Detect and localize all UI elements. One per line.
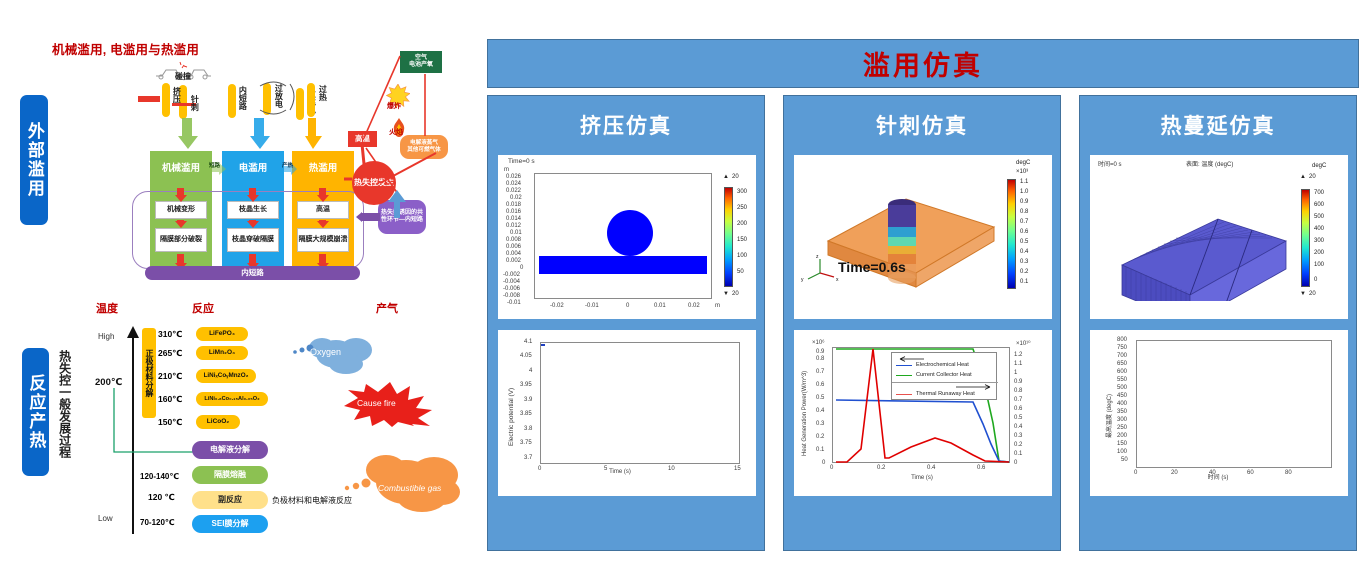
nail-cb-7: 0.4 [1020, 249, 1028, 255]
sq-x-unit: m [715, 303, 720, 309]
reaction-nca: LiNi₀.₈Co₀.₁₅Al₀.₀₅O₂ [196, 392, 268, 406]
label-overheat: 过热 [318, 85, 326, 101]
temp-120: 120 ℃ [148, 492, 175, 503]
panel-thermal-propagation-simulation[interactable]: 热蔓延仿真 时间=0 s 表面: 温度 (degC) [1079, 95, 1357, 551]
panel-title-squeeze: 挤压仿真 [488, 110, 764, 140]
reaction-separator-melt: 隔膜熔融 [192, 466, 268, 484]
hg-ytl-0: 0 [822, 460, 825, 466]
subbox-mechanical-deformation: 机械变形 [155, 201, 207, 219]
ep-xt-0: 0 [538, 466, 541, 472]
temp-120-140: 120-140℃ [140, 472, 179, 481]
reaction-nmc: LiNiₓCoᵧMnzO₂ [196, 369, 256, 383]
hg-ytl-3: 0.3 [816, 421, 824, 427]
subbox-dendrite-pierce: 枝晶穿破隔膜 [227, 228, 279, 252]
hg-xt-2: 0.4 [927, 465, 935, 471]
legend-divider [892, 382, 998, 383]
mt-plot-frame [1136, 340, 1332, 468]
ep-xt-2: 10 [668, 466, 675, 472]
mt-yt-11: 250 [1117, 425, 1127, 431]
reaction-licoo2: LiCoO₂ [196, 415, 240, 429]
hg-ytl-4: 0.4 [816, 408, 824, 414]
pack-cbar-down-icon [1300, 291, 1306, 297]
sidebar-tab-external-abuse: 外部滥用 [20, 95, 48, 225]
ep-xt-1: 5 [604, 466, 607, 472]
mt-yt-12: 200 [1117, 433, 1127, 439]
red-arrow-3 [177, 254, 184, 264]
mt-yt-10: 300 [1117, 417, 1127, 423]
pack-cb-1: 600 [1314, 202, 1324, 208]
hg-ytl-1: 0.1 [816, 447, 824, 453]
heat-generation-plot[interactable]: Heat Generation Power(W/m^3) ×10⁶ ×10¹⁰ [794, 330, 1052, 496]
combustible-gas-cloud-icon [330, 440, 470, 515]
reaction-lifepo4: LiFePO₄ [196, 327, 248, 341]
mt-yt-8: 400 [1117, 401, 1127, 407]
sq-yt-4: 0.018 [506, 202, 521, 208]
sq-cbar-down-icon [723, 291, 729, 297]
hg-ytr-0: 0 [1014, 460, 1017, 466]
box-electrical-abuse: 电滥用 [222, 151, 284, 187]
mt-xt-1: 20 [1171, 470, 1178, 476]
sq-yt-2: 0.022 [506, 188, 521, 194]
sq-yt-5: 0.016 [506, 209, 521, 215]
mt-yt-6: 500 [1117, 385, 1127, 391]
mt-yt-2: 700 [1117, 353, 1127, 359]
mt-ylabel: 最高温度 (degC) [1104, 394, 1113, 438]
arrow-to-electrical [250, 118, 276, 150]
box-mechanical-abuse: 机械滥用 [150, 151, 212, 187]
panel-title-propagation: 热蔓延仿真 [1080, 110, 1356, 140]
ep-yt-2: 4 [529, 368, 532, 374]
squeeze-y-unit: m [504, 167, 509, 173]
pack-cb-4: 300 [1314, 238, 1324, 244]
sq-cb-4: 100 [737, 253, 747, 259]
mt-yt-9: 350 [1117, 409, 1127, 415]
legend-label-runaway: Thermal Runaway Heat [916, 391, 975, 397]
label-squeeze: 挤压 [172, 87, 180, 103]
col-header-temperature: 温度 [96, 300, 118, 316]
nail-cb-1: 1.0 [1020, 189, 1028, 195]
simulation-dashboard: 滥用仿真 挤压仿真 Time=0 s m 0.026 0.024 0.022 0… [487, 0, 1363, 571]
dashboard-banner: 滥用仿真 [487, 39, 1359, 88]
sq-cbar-up-icon [723, 174, 729, 180]
red-arrow-6 [249, 254, 256, 264]
panel-title-nail: 针刺仿真 [784, 110, 1060, 140]
reaction-side-reaction: 副反应 [192, 491, 268, 509]
hg-ytr-6: 0.6 [1014, 406, 1022, 412]
ep-ylabel: Electric potential (V) [508, 388, 515, 446]
sidebar-tab-reaction-heat: 反应产热 [22, 348, 49, 476]
sq-yt-9: 0.008 [506, 237, 521, 243]
hg-plot-frame: Electrochemical Heat Current Collector H… [832, 347, 1010, 463]
red-arrow-9 [319, 254, 326, 264]
mt-xt-0: 0 [1134, 470, 1137, 476]
pack-geometry-plot[interactable]: 时间=0 s 表面: 温度 (degC) [1090, 155, 1348, 319]
red-arrow-4 [249, 188, 256, 196]
pack-cb-0: 700 [1314, 190, 1324, 196]
mt-yt-13: 150 [1117, 441, 1127, 447]
red-arrow-7 [319, 188, 326, 196]
temp-210: 210℃ [158, 371, 182, 382]
pack-cbar-up-icon [1300, 174, 1306, 180]
sq-yt-14: -0.002 [503, 272, 520, 278]
temp-160: 160℃ [158, 394, 182, 405]
hg-yexp-left: ×10⁶ [812, 340, 825, 346]
nail-cbar-exp: ×10³ [1016, 169, 1028, 175]
squeeze-geometry-plot[interactable]: Time=0 s m 0.026 0.024 0.022 0.02 0.018 … [498, 155, 756, 319]
pack-cb-3: 400 [1314, 226, 1324, 232]
nail-cb-3: 0.8 [1020, 209, 1028, 215]
legend-label-electrochemical: Electrochemical Heat [916, 362, 969, 368]
arrow-note-to-group [356, 212, 380, 222]
sq-yt-0: 0.026 [506, 174, 521, 180]
squeeze-arrow [138, 96, 160, 102]
red-arrow-5 [249, 220, 256, 222]
nail-geometry-plot[interactable]: z y x Time=0.6s degC ×10³ 1.1 1.0 0.9 0.… [794, 155, 1052, 319]
sq-yt-7: 0.012 [506, 223, 521, 229]
hg-ytl-6: 0.6 [816, 382, 824, 388]
sq-xt-1: -0.01 [585, 303, 599, 309]
label-nail: 针刺 [190, 95, 198, 111]
battery-icon-internal-short [228, 84, 236, 118]
subbox-separator-partial-rupture: 隔膜部分破裂 [155, 228, 207, 252]
ep-yt-3: 3.95 [520, 382, 532, 388]
nail-cb-8: 0.3 [1020, 259, 1028, 265]
temp-310: 310℃ [158, 329, 182, 340]
max-temperature-plot[interactable]: 最高温度 (degC) 时间 (s) 800 750 700 650 600 5… [1090, 330, 1348, 496]
red-arrow-2 [177, 220, 184, 222]
temp-70-120: 70-120℃ [140, 518, 175, 527]
col-header-reaction: 反应 [192, 300, 214, 316]
mt-yt-5: 550 [1117, 377, 1127, 383]
legend-swatch-electrochemical [896, 365, 912, 366]
battery-icon-overheat [307, 83, 315, 117]
legend-label-collector: Current Collector Heat [916, 372, 972, 378]
sq-yt-1: 0.024 [506, 181, 521, 187]
hg-legend: Electrochemical Heat Current Collector H… [891, 352, 997, 400]
nail-cb-5: 0.6 [1020, 229, 1028, 235]
svg-text:y: y [801, 277, 804, 283]
hg-ytl-2: 0.2 [816, 434, 824, 440]
hg-ytr-11: 1.1 [1014, 361, 1022, 367]
hg-yexp-right: ×10¹⁰ [1016, 340, 1031, 347]
mt-yt-4: 600 [1117, 369, 1127, 375]
sq-yt-3: 0.02 [510, 195, 522, 201]
nail-time-annotation: Time=0.6s [838, 259, 906, 275]
pack-cbar-bottom: 20 [1309, 291, 1316, 297]
mt-xt-4: 80 [1285, 470, 1292, 476]
ep-series-line [541, 344, 545, 346]
hg-ytr-1: 0.1 [1014, 451, 1022, 457]
hg-ytr-10: 1 [1014, 370, 1017, 376]
cycle-arrows-icon [240, 76, 310, 120]
mt-yt-0: 800 [1117, 337, 1127, 343]
hg-ytr-7: 0.7 [1014, 397, 1022, 403]
label-short-circuit: 短路 [209, 164, 220, 170]
label-combustible-gas: Combustible gas [378, 483, 441, 493]
mt-yt-3: 650 [1117, 361, 1127, 367]
nail-cb-6: 0.5 [1020, 239, 1028, 245]
pack-cb-5: 200 [1314, 250, 1324, 256]
reaction-electrolyte-decomposition: 电解液分解 [192, 441, 268, 459]
svg-text:z: z [816, 254, 819, 260]
sq-yt-11: 0.004 [506, 251, 521, 257]
label-collision: 碰撞 [175, 73, 191, 81]
hg-ytl-5: 0.5 [816, 395, 824, 401]
hg-ytr-12: 1.2 [1014, 352, 1022, 358]
squeeze-indenter-geometry [607, 210, 653, 256]
sq-xt-4: 0.02 [688, 303, 700, 309]
hg-xt-0: 0 [830, 465, 833, 471]
sq-xt-3: 0.01 [654, 303, 666, 309]
label-heat-generation: 产热 [282, 164, 293, 170]
hg-xt-1: 0.2 [877, 465, 885, 471]
hg-xt-3: 0.6 [977, 465, 985, 471]
red-arrow-1 [177, 188, 184, 196]
sq-yt-6: 0.014 [506, 216, 521, 222]
red-arrow-8 [319, 220, 326, 222]
sq-xt-2: 0 [626, 303, 629, 309]
squeeze-plot-frame [534, 173, 712, 299]
sq-cb-2: 200 [737, 221, 747, 227]
pack-cb-6: 100 [1314, 262, 1324, 268]
hg-ytl-7: 0.7 [816, 369, 824, 375]
hg-ytr-2: 0.2 [1014, 442, 1022, 448]
nail-cbar-unit: degC [1016, 160, 1030, 166]
top-diagram-title: 机械滥用, 电滥用与热滥用 [52, 39, 199, 58]
mt-xt-3: 60 [1247, 470, 1254, 476]
legend-swatch-runaway [896, 394, 912, 395]
nail-cb-4: 0.7 [1020, 219, 1028, 225]
axis-label-low: Low [98, 514, 113, 523]
sq-yt-12: 0.002 [506, 258, 521, 264]
pack-cb-7: 0 [1314, 277, 1317, 283]
mt-yt-1: 750 [1117, 345, 1127, 351]
hg-ylabel: Heat Generation Power(W/m^3) [802, 371, 808, 456]
ep-yt-4: 3.9 [524, 397, 532, 403]
pack-subtitle: 表面: 温度 (degC) [1186, 159, 1233, 168]
flow-description: 热失控一般发展过程 [58, 350, 71, 515]
legend-right-axis-arrow-icon [954, 384, 994, 390]
label-oxygen: Oxygen [310, 347, 341, 357]
mt-yt-14: 100 [1117, 449, 1127, 455]
hg-ytr-5: 0.5 [1014, 415, 1022, 421]
hg-ytr-8: 0.8 [1014, 388, 1022, 394]
subbox-dendrite-growth: 枝晶生长 [227, 201, 279, 219]
left-illustration-column: 机械滥用, 电滥用与热滥用 外部滥用 挤压 针刺 碰撞 内短路 过放电 过充电 … [0, 0, 480, 571]
sq-yt-10: 0.006 [506, 244, 521, 250]
sq-yt-15: -0.004 [503, 279, 520, 285]
sq-cb-0: 300 [737, 189, 747, 195]
mt-yt-15: 50 [1121, 457, 1128, 463]
hg-ytl-9: 0.9 [816, 349, 824, 355]
col-header-gas: 产气 [376, 300, 398, 316]
squeeze-plate-geometry [539, 256, 707, 274]
sq-yt-18: -0.01 [507, 300, 521, 306]
ep-yt-6: 3.8 [524, 426, 532, 432]
sq-cb-5: 50 [737, 269, 744, 275]
nail-cb-0: 1.1 [1020, 179, 1028, 185]
banner-title: 滥用仿真 [863, 44, 983, 83]
sq-cbar-top: 20 [732, 174, 739, 180]
battery-icon-squeeze [162, 83, 170, 117]
ep-yt-8: 3.7 [524, 455, 532, 461]
hg-xlabel: Time (s) [822, 475, 1022, 481]
ep-yt-0: 4.1 [524, 339, 532, 345]
ep-xt-3: 15 [734, 466, 741, 472]
hg-ytl-8: 0.8 [816, 356, 824, 362]
nail-cb-2: 0.9 [1020, 199, 1028, 205]
sq-cb-1: 250 [737, 205, 747, 211]
subbox-separator-collapse: 隔膜大规模崩溃 [297, 228, 349, 252]
battery-pack-3d-model [1100, 183, 1290, 301]
pack-cbar-top: 20 [1309, 174, 1316, 180]
sq-yt-17: -0.008 [503, 293, 520, 299]
nail-colorbar [1007, 179, 1016, 289]
pack-cbar-unit: degC [1312, 163, 1326, 169]
sq-yt-8: 0.01 [510, 230, 522, 236]
ep-yt-7: 3.75 [520, 440, 532, 446]
mt-xt-2: 40 [1209, 470, 1216, 476]
temp-150: 150℃ [158, 417, 182, 428]
runaway-connector-lines [340, 48, 450, 208]
axis-label-high: High [98, 332, 114, 341]
sq-xt-0: -0.02 [550, 303, 564, 309]
temp-265: 265℃ [158, 348, 182, 359]
pack-time-annotation: 时间=0 s [1098, 159, 1122, 168]
panel-nail-penetration-simulation[interactable]: 针刺仿真 z y x [783, 95, 1061, 551]
pack-cb-2: 500 [1314, 214, 1324, 220]
pack-colorbar [1301, 189, 1310, 287]
hg-ytr-4: 0.4 [1014, 424, 1022, 430]
ep-xlabel: Time (s) [520, 469, 720, 475]
sq-cb-3: 150 [737, 237, 747, 243]
legend-swatch-collector [896, 375, 912, 376]
arrow-to-mechanical [178, 118, 204, 150]
reaction-sei-decomposition: SEI膜分解 [192, 515, 268, 533]
arrow-to-thermal [305, 118, 327, 150]
squeeze-time-annotation: Time=0 s [508, 158, 535, 165]
sq-yt-13: 0 [520, 265, 523, 271]
mt-yt-7: 450 [1117, 393, 1127, 399]
ep-plot-frame [540, 342, 740, 464]
nail-cb-9: 0.2 [1020, 269, 1028, 275]
arrow-feedback-blue [386, 190, 408, 218]
svg-text:x: x [836, 277, 839, 283]
reaction-limn2o4: LiMn₂O₄ [196, 346, 248, 360]
hg-ytr-9: 0.9 [1014, 379, 1022, 385]
nail-cb-10: 0.1 [1020, 279, 1028, 285]
panel-squeeze-simulation[interactable]: 挤压仿真 Time=0 s m 0.026 0.024 0.022 0.02 0… [487, 95, 765, 551]
label-cathode-decomposition: 正极材料分解 [142, 328, 156, 418]
ep-yt-1: 4.05 [520, 353, 532, 359]
label-cause-fire: Cause fire [357, 398, 396, 408]
hg-ytr-3: 0.3 [1014, 433, 1022, 439]
sq-yt-16: -0.006 [503, 286, 520, 292]
sq-cbar-bottom: 20 [732, 291, 739, 297]
ep-yt-5: 3.85 [520, 411, 532, 417]
electric-potential-plot[interactable]: Electric potential (V) Time (s) 4.1 4.05… [498, 330, 756, 496]
sq-colorbar [724, 187, 733, 287]
bottom-bar-internal-short: 内短路 [145, 266, 360, 280]
